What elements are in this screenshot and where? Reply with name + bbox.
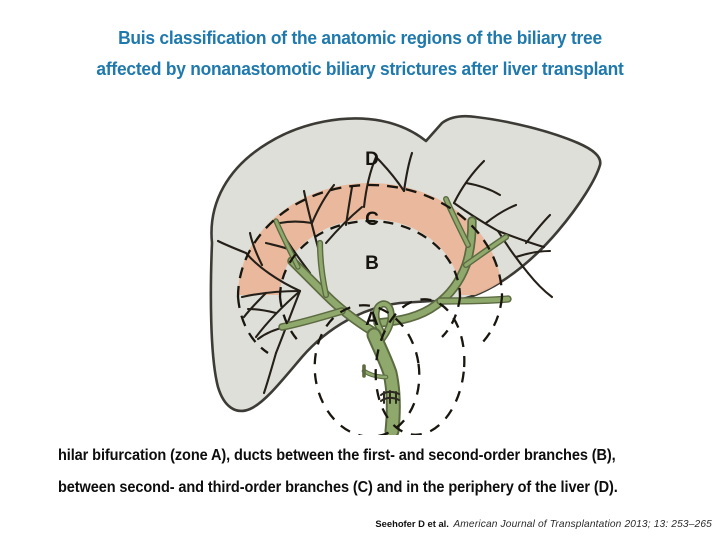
caption-line-2: between second- and third-order branches… (58, 472, 657, 504)
right-second-order-duct-fill (440, 299, 508, 301)
zone-label-b: B (365, 253, 379, 274)
anastomosis-suture (381, 391, 399, 403)
zone-label-a: A (365, 309, 379, 330)
zone-c-outer-right-tail (480, 297, 502, 345)
figure-caption: hilar bifurcation (zone A), ducts betwee… (58, 440, 688, 504)
liver-biliary-tree-diagram: D C B A (150, 95, 610, 435)
common-bile-duct-fill (374, 335, 393, 431)
slide-canvas: Buis classification of the anatomic regi… (0, 0, 720, 540)
caption-line-1: hilar bifurcation (zone A), ducts betwee… (58, 440, 657, 472)
title-line-1: Buis classification of the anatomic regi… (22, 22, 699, 53)
citation-source: American Journal of Transplantation 2013… (453, 519, 712, 530)
title-line-2: affected by nonanastomotic biliary stric… (22, 53, 699, 84)
citation-authors: Seehofer D et al. (375, 518, 448, 529)
zone-label-d: D (365, 149, 379, 170)
zone-label-c: C (365, 209, 379, 230)
page-title: Buis classification of the anatomic regi… (0, 22, 720, 84)
citation: Seehofer D et al. American Journal of Tr… (0, 514, 712, 532)
